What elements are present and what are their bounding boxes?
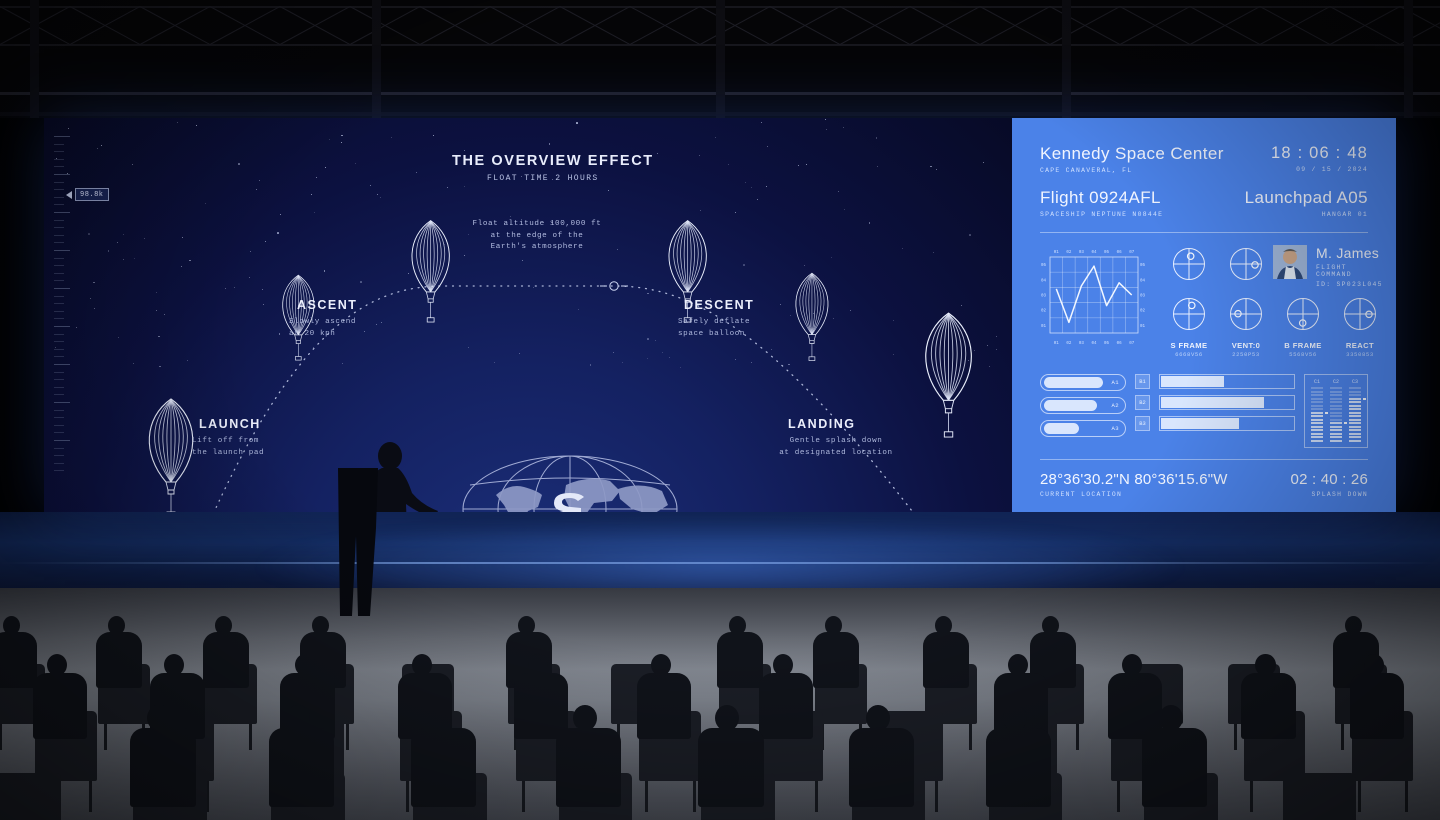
eq-label: C2 [1330, 379, 1342, 385]
audience-body [130, 728, 195, 808]
eq-segment [1311, 387, 1323, 389]
eq-segment [1330, 408, 1342, 410]
diagram-title: THE OVERVIEW EFFECT [452, 153, 654, 169]
dials-row-main: S FRAME6668V56VENT:02250P53B FRAME5568V5… [1162, 295, 1387, 358]
star [893, 354, 894, 355]
dial-b-frame[interactable]: B FRAME5568V56 [1276, 295, 1330, 358]
star [766, 186, 767, 187]
audience [0, 560, 1440, 820]
eq-segment [1349, 433, 1361, 435]
eq-segment [1349, 412, 1361, 414]
eq-marker [1344, 422, 1347, 424]
svg-text:01: 01 [1041, 325, 1047, 329]
star [989, 366, 990, 367]
stage-label-ascent: ASCENT [297, 298, 357, 312]
star [433, 135, 434, 136]
star [97, 148, 98, 149]
dial-label: VENT:0 [1219, 341, 1273, 350]
eq-segment [1349, 419, 1361, 421]
star [655, 340, 656, 341]
mission-date: 09 / 15 / 2024 [1271, 166, 1368, 173]
eq-marker [1325, 412, 1328, 414]
dial-vent-0[interactable]: VENT:02250P53 [1219, 295, 1273, 358]
dial-face [1227, 295, 1265, 333]
bar-meter-group [1159, 374, 1295, 431]
slider-a3[interactable]: A3 [1040, 420, 1126, 437]
chip-b1[interactable]: B1 [1135, 374, 1150, 389]
star [788, 364, 790, 366]
eq-segment [1311, 401, 1323, 403]
star [325, 167, 326, 168]
star [669, 357, 670, 358]
audience-body [717, 632, 763, 688]
eq-marker [1363, 398, 1366, 400]
eq-segment [1311, 408, 1323, 410]
dial-label: REACT [1333, 341, 1387, 350]
star [647, 338, 649, 340]
ruler-tick [54, 402, 70, 403]
ruler-tick [54, 258, 64, 259]
ruler-tick [54, 470, 64, 471]
star [743, 264, 745, 266]
progress-bar-fill [1161, 397, 1264, 408]
eq-segment [1330, 436, 1342, 438]
site-sub: CAPE CANAVERAL, FL [1040, 167, 1224, 174]
star [177, 122, 178, 123]
ruler-tick [54, 341, 64, 342]
eq-segment [1349, 436, 1361, 438]
star [930, 166, 932, 168]
svg-text:03: 03 [1140, 295, 1146, 299]
ruler-tick [54, 417, 64, 418]
dial-s-frame[interactable]: S FRAME6668V56 [1162, 295, 1216, 358]
altitude-marker: 98.8k [66, 188, 109, 201]
star [662, 352, 663, 353]
eq-segment [1311, 429, 1323, 431]
star [850, 310, 851, 311]
slider-label: A2 [1111, 402, 1119, 409]
ruler-tick [54, 303, 64, 304]
star [468, 347, 469, 348]
splashdown-countdown: 02 : 40 : 26 [1291, 471, 1368, 488]
star [381, 322, 382, 323]
eq-stack [1349, 387, 1361, 442]
stage-body-landing: Gentle splash downat designated location [756, 436, 916, 459]
star [263, 304, 264, 305]
svg-text:01: 01 [1054, 251, 1060, 255]
star [101, 145, 102, 146]
dial-code: 3350853 [1333, 351, 1387, 358]
eq-column-c3[interactable]: C3 [1349, 379, 1361, 442]
eq-segment [1330, 412, 1342, 414]
svg-text:05: 05 [1104, 342, 1110, 346]
star [370, 185, 371, 186]
dial-top[interactable] [1219, 245, 1273, 288]
eq-segment [1311, 440, 1323, 442]
eq-stack [1311, 387, 1323, 442]
ruler-tick [54, 182, 64, 183]
float-altitude-note: Float altitude 100,000 ftat the edge of … [452, 219, 622, 254]
stage-body-launch: Lift off fromthe launch pad [192, 436, 264, 459]
ruler-tick [54, 242, 64, 243]
dial-face [1341, 295, 1379, 333]
star [893, 320, 894, 321]
star [613, 352, 614, 353]
eq-segment [1349, 440, 1361, 442]
eq-column-c2[interactable]: C2 [1330, 379, 1342, 442]
dial-face [1227, 245, 1265, 283]
svg-text:04: 04 [1140, 279, 1146, 283]
audience-body [759, 673, 813, 739]
star [238, 163, 240, 165]
ruler-tick [54, 440, 70, 441]
chip-b2[interactable]: B2 [1135, 395, 1150, 410]
svg-text:06: 06 [1117, 342, 1123, 346]
ruler-tick [54, 151, 64, 152]
coords-block: 28°36'30.2"N 80°36'15.6"W CURRENT LOCATI… [1040, 471, 1228, 498]
eq-segment [1330, 426, 1342, 428]
star [132, 164, 133, 165]
operator-profile: M. James FLIGHT COMMAND ID: SP023L045 [1273, 245, 1387, 288]
star [329, 139, 330, 140]
svg-text:03: 03 [1041, 295, 1047, 299]
star [262, 289, 263, 290]
chair-leg [522, 781, 525, 812]
star [280, 214, 281, 215]
eq-segment [1349, 394, 1361, 396]
eq-label: C3 [1349, 379, 1361, 385]
ruler-tick [54, 311, 64, 312]
stage-label-landing: LANDING [788, 417, 855, 431]
dials-and-profile: M. James FLIGHT COMMAND ID: SP023L045 S … [1160, 245, 1387, 358]
star [187, 360, 188, 361]
star [360, 281, 362, 283]
star [159, 366, 161, 368]
progress-bar-2[interactable] [1159, 395, 1295, 410]
ruler-tick [54, 235, 64, 236]
star [225, 288, 226, 289]
dial-face [1170, 295, 1208, 333]
audience-body [411, 728, 476, 808]
eq-segment [1349, 387, 1361, 389]
chair-leg [104, 724, 107, 750]
telemetry-chart-svg: 0101020203030404050506060707 05050404030… [1040, 245, 1146, 349]
audience-body [813, 632, 859, 688]
eq-segment [1330, 440, 1342, 442]
star [314, 212, 315, 213]
star [825, 119, 826, 120]
star [156, 310, 157, 311]
pad-name: Launchpad A05 [1245, 188, 1368, 208]
stage-label-descent: DESCENT [684, 298, 754, 312]
star [510, 216, 511, 217]
star [494, 362, 495, 363]
chair-leg [89, 781, 92, 812]
star [522, 260, 523, 261]
star [144, 238, 145, 239]
ruler-tick [54, 364, 70, 365]
chair-leg [969, 724, 972, 750]
star [123, 234, 124, 235]
star [933, 252, 934, 253]
flight-name: Flight 0924AFL [1040, 188, 1163, 208]
eq-segment [1330, 422, 1342, 424]
speaker-legs [330, 468, 390, 623]
star [205, 203, 206, 204]
audience-body [0, 632, 37, 688]
star [376, 324, 377, 325]
stage-label-launch: LAUNCH [199, 417, 261, 431]
dial-top[interactable] [1162, 245, 1216, 288]
site-and-clock-row: Kennedy Space Center CAPE CANAVERAL, FL … [1040, 144, 1368, 174]
pill-toggle-group: A1A2A3 [1040, 374, 1126, 437]
dials-row-top [1162, 245, 1273, 288]
star [844, 209, 845, 210]
audience-body [698, 728, 763, 808]
pad-block: Launchpad A05 HANGAR 01 [1245, 188, 1368, 218]
trajectory-diagram: 98.8k THE OVERVIEW EFFECT FLOAT TIME 2 H… [44, 118, 1012, 512]
star [234, 287, 235, 288]
star [735, 212, 736, 213]
star [590, 364, 592, 366]
stage-body-ascent: Slowly ascendat 20 kph [289, 317, 356, 340]
progress-bar-1[interactable] [1159, 374, 1295, 389]
ruler-tick [54, 144, 64, 145]
ruler-tick [54, 425, 64, 426]
chip-b3[interactable]: B3 [1135, 416, 1150, 431]
telemetry-chart: 0101020203030404050506060707 05050404030… [1040, 245, 1146, 354]
eq-segment [1349, 422, 1361, 424]
star [316, 177, 317, 178]
operator-text: M. James FLIGHT COMMAND ID: SP023L045 [1316, 245, 1387, 288]
slider-label: A3 [1111, 425, 1119, 432]
star [996, 336, 997, 337]
chair-leg [693, 781, 696, 812]
eq-segment [1311, 433, 1323, 435]
star [108, 250, 110, 252]
star [117, 242, 118, 243]
audience-body [203, 632, 249, 688]
eq-label: C1 [1311, 379, 1323, 385]
eq-segment [1349, 405, 1361, 407]
svg-text:02: 02 [1066, 251, 1072, 255]
truss-post [1404, 0, 1413, 118]
star [519, 353, 520, 354]
star [93, 282, 95, 284]
star [265, 241, 266, 242]
chair-leg [1405, 781, 1408, 812]
star [164, 314, 165, 315]
diagram-subtitle: FLOAT TIME 2 HOURS [487, 174, 599, 183]
site-block: Kennedy Space Center CAPE CANAVERAL, FL [1040, 144, 1224, 174]
dial-code: 2250P53 [1219, 351, 1273, 358]
truss-post [1062, 0, 1071, 118]
star [181, 266, 182, 267]
star [156, 292, 157, 293]
audience-body [96, 632, 142, 688]
star [806, 164, 807, 165]
star [798, 165, 799, 166]
flight-sub: SPACESHIP NEPTUNE N0844E [1040, 211, 1163, 218]
eq-segment [1311, 415, 1323, 417]
ruler-tick [54, 326, 70, 327]
projection-screen: 98.8k THE OVERVIEW EFFECT FLOAT TIME 2 H… [44, 118, 1396, 512]
star [715, 137, 716, 138]
svg-text:02: 02 [1140, 310, 1146, 314]
ruler-tick [54, 174, 70, 175]
elevation-ruler [54, 136, 76, 476]
ruler-tick [54, 448, 64, 449]
flight-and-pad-row: Flight 0924AFL SPACESHIP NEPTUNE N0844E … [1040, 188, 1368, 218]
star [259, 180, 260, 181]
svg-text:05: 05 [1041, 264, 1047, 268]
svg-text:06: 06 [1117, 251, 1123, 255]
ruler-tick [54, 455, 64, 456]
star [447, 187, 448, 188]
chair-leg [1117, 781, 1120, 812]
eq-segment [1349, 426, 1361, 428]
eq-segment [1311, 394, 1323, 396]
chair-leg [346, 724, 349, 750]
star [838, 191, 839, 192]
svg-text:05: 05 [1140, 264, 1146, 268]
chair-leg [1076, 724, 1079, 750]
star [196, 125, 197, 126]
progress-bar-fill [1161, 376, 1224, 387]
star [380, 197, 381, 198]
slider-fill [1044, 423, 1079, 434]
slider-a1[interactable]: A1 [1040, 374, 1126, 391]
star [657, 153, 658, 154]
ruler-tick [54, 288, 70, 289]
svg-text:03: 03 [1079, 342, 1085, 346]
star [355, 163, 356, 164]
audience-body [1350, 673, 1404, 739]
star [341, 142, 342, 143]
star [134, 258, 135, 259]
star [256, 189, 257, 190]
ruler-tick [54, 197, 64, 198]
eq-segment [1330, 387, 1342, 389]
eq-segment [1311, 436, 1323, 438]
eq-segment [1330, 391, 1342, 393]
eq-segment [1330, 429, 1342, 431]
star [123, 259, 124, 260]
dial-face [1284, 295, 1322, 333]
ruler-tick [54, 463, 64, 464]
svg-text:05: 05 [1104, 251, 1110, 255]
presentation-scene: 98.8k THE OVERVIEW EFFECT FLOAT TIME 2 H… [0, 0, 1440, 820]
ruler-tick [54, 204, 64, 205]
coords-label: CURRENT LOCATION [1040, 491, 1228, 498]
audience-body [514, 673, 568, 739]
slider-a2[interactable]: A2 [1040, 397, 1126, 414]
star [464, 150, 465, 151]
ruler-tick [54, 220, 64, 221]
eq-segment [1349, 408, 1361, 410]
mission-clock: 18 : 06 : 48 [1271, 144, 1368, 163]
chair-leg [406, 781, 409, 812]
eq-segment [1349, 398, 1361, 400]
audience-body [1241, 673, 1295, 739]
ruler-tick [54, 227, 64, 228]
star [936, 169, 937, 170]
star [771, 349, 772, 350]
eq-segment [1349, 391, 1361, 393]
star [94, 308, 95, 309]
progress-bar-3[interactable] [1159, 416, 1295, 431]
chip-group: B1B2B3 [1135, 374, 1150, 431]
eq-segment [1330, 405, 1342, 407]
star [647, 358, 648, 359]
ceiling-truss [0, 0, 1440, 118]
countdown-block: 02 : 40 : 26 SPLASH DOWN [1291, 471, 1368, 498]
slider-fill [1044, 377, 1103, 388]
slider-fill [1044, 400, 1097, 411]
chair-leg [1341, 724, 1344, 750]
operator-id: ID: SP023L045 [1316, 281, 1387, 288]
star [751, 362, 752, 363]
svg-text:04: 04 [1091, 251, 1097, 255]
altitude-marker-arrow-icon [66, 191, 72, 199]
star [622, 362, 623, 363]
globe-logo [462, 455, 678, 512]
dial-react[interactable]: REACT3350853 [1333, 295, 1387, 358]
star [767, 146, 768, 147]
star [118, 337, 119, 338]
dial-label: S FRAME [1162, 341, 1216, 350]
dial-code: 6668V56 [1162, 351, 1216, 358]
ruler-tick [54, 394, 64, 395]
truss-post [716, 0, 725, 118]
star [983, 162, 984, 163]
star [699, 155, 701, 157]
star [250, 251, 251, 252]
svg-text:04: 04 [1091, 342, 1097, 346]
truss-post [30, 0, 39, 118]
eq-segment [1330, 398, 1342, 400]
chair-leg [0, 724, 2, 750]
chair [1283, 773, 1357, 820]
audience-body [849, 728, 914, 808]
dial-code: 5568V56 [1276, 351, 1330, 358]
star [961, 305, 962, 306]
eq-segment [1330, 415, 1342, 417]
altitude-value: 98.8k [75, 188, 109, 201]
star [88, 233, 90, 235]
operator-role: FLIGHT COMMAND [1316, 264, 1387, 278]
ruler-tick [54, 432, 64, 433]
audience-body [986, 728, 1051, 808]
dial-label: B FRAME [1276, 341, 1330, 350]
star [877, 166, 879, 168]
ruler-tick [54, 250, 70, 251]
svg-text:04: 04 [1041, 279, 1047, 283]
ruler-tick [54, 379, 64, 380]
chair-leg [1358, 781, 1361, 812]
clock-block: 18 : 06 : 48 09 / 15 / 2024 [1271, 144, 1368, 173]
star [342, 363, 343, 364]
dial-face [1170, 245, 1208, 283]
star [182, 237, 183, 238]
ruler-tick [54, 387, 64, 388]
eq-column-c1[interactable]: C1 [1311, 379, 1323, 442]
star [533, 287, 534, 288]
audience-body [556, 728, 621, 808]
star [780, 304, 782, 306]
eq-segment [1330, 419, 1342, 421]
star [578, 309, 579, 310]
